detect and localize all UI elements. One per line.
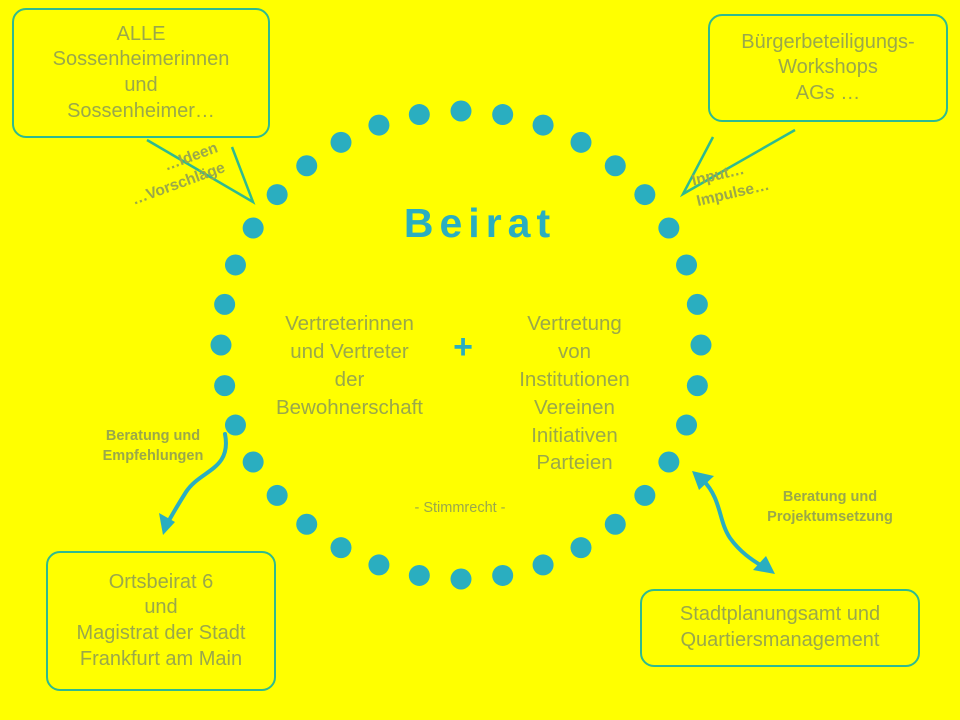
center-right-line-2: von [492, 338, 657, 366]
box-stadtplanung-line-2: Quartiersmanagement [652, 628, 908, 654]
center-column-institutions: Vertretung von Institutionen Vereinen In… [492, 310, 657, 477]
center-right-line-1: Vertretung [492, 310, 657, 338]
bubble-workshops-line-2: Workshops [720, 55, 936, 81]
annotation-beratung-projektumsetzung: Beratung und Projektumsetzung [740, 488, 920, 527]
center-column-residents: Vertreterinnen und Vertreter der Bewohne… [262, 310, 437, 422]
center-right-line-5: Initiativen [492, 422, 657, 450]
center-left-line-3: der [262, 366, 437, 394]
diagram-canvas: ALLE Sossenheimerinnen und Sossenheimer…… [0, 0, 960, 720]
box-ortsbeirat-line-3: Magistrat der Stadt [58, 621, 264, 647]
center-left-line-2: und Vertreter [262, 338, 437, 366]
center-right-line-4: Vereinen [492, 394, 657, 422]
bubble-citizens-line-4: Sossenheimer… [24, 99, 258, 125]
box-ortsbeirat-line-2: und [58, 595, 264, 621]
box-ortsbeirat-line-4: Frankfurt am Main [58, 647, 264, 673]
center-right-line-3: Institutionen [492, 366, 657, 394]
bubble-workshops-line-1: Bürgerbeteiligungs- [720, 30, 936, 56]
plus-icon: + [445, 328, 481, 367]
voting-rights-note: - Stimmrecht - [370, 500, 550, 516]
bubble-workshops-line-3: AGs … [720, 81, 936, 107]
box-stadtplanung-line-1: Stadtplanungsamt und [652, 602, 908, 628]
bubble-citizens-line-3: und [24, 73, 258, 99]
annotation-beratung-projekt-line-2: Projektumsetzung [740, 508, 920, 528]
annotation-beratung-empfehlungen: Beratung und Empfehlungen [78, 427, 228, 466]
speech-bubble-citizens[interactable]: ALLE Sossenheimerinnen und Sossenheimer… [12, 8, 270, 138]
box-stadtplanungsamt[interactable]: Stadtplanungsamt und Quartiersmanagement [640, 589, 920, 667]
annotation-beratung-empfehlungen-line-2: Empfehlungen [78, 447, 228, 467]
center-right-line-6: Parteien [492, 449, 657, 477]
beratung-projektumsetzung-arrowhead-down [753, 556, 775, 574]
center-left-line-4: Bewohnerschaft [262, 394, 437, 422]
box-ortsbeirat-line-1: Ortsbeirat 6 [58, 570, 264, 596]
speech-bubble-workshops[interactable]: Bürgerbeteiligungs- Workshops AGs … [708, 14, 948, 122]
bubble-citizens-line-1: ALLE [24, 22, 258, 48]
annotation-beratung-projekt-line-1: Beratung und [740, 488, 920, 508]
diagram-title: Beirat [330, 200, 630, 247]
box-ortsbeirat[interactable]: Ortsbeirat 6 und Magistrat der Stadt Fra… [46, 551, 276, 691]
annotation-beratung-empfehlungen-line-1: Beratung und [78, 427, 228, 447]
bubble-citizens-line-2: Sossenheimerinnen [24, 47, 258, 73]
center-left-line-1: Vertreterinnen [262, 310, 437, 338]
